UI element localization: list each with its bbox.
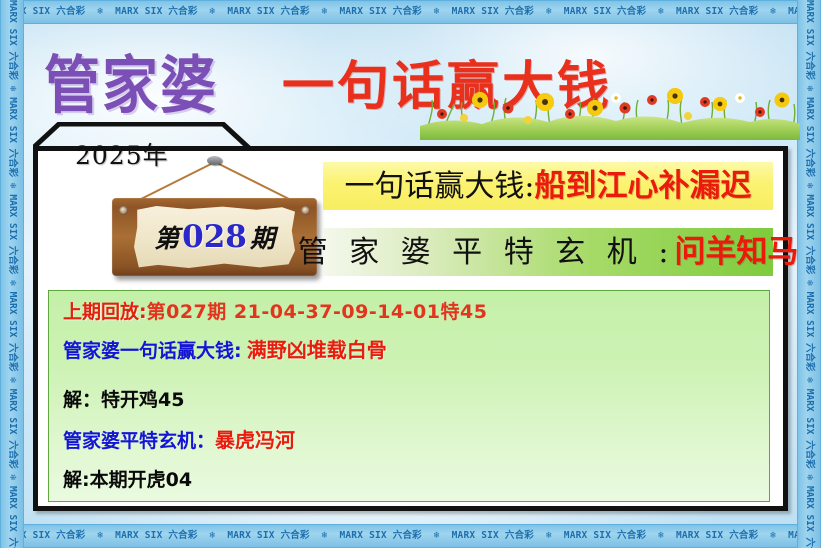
secret-value: 暴虎冯河 [215,428,295,452]
flower-icon: ❄ [319,530,331,541]
replay-row: 上期回放:第027期 21-04-37-09-14-01特45 [63,303,769,322]
sign-peg-icon [207,156,222,165]
flower-icon: ❄ [543,6,555,17]
border-tile-text: MARX SIX 六合彩 [112,6,200,17]
banner-green-label: 管 家 婆 平 特 玄 机 : [298,235,675,270]
flower-icon: ❄ [7,377,18,383]
flower-icon: ❄ [655,530,667,541]
poster-root: MARX SIX 六合彩 ❄ MARX SIX 六合彩 ❄ MARX SIX 六… [0,0,821,548]
border-tile-text: MARX SIX 六合彩 [449,6,537,17]
explain-row-1: 解：特开鸡45 [63,391,769,410]
flower-icon: ❄ [767,530,779,541]
border-tile-text: MARX SIX 六合彩 [449,530,537,541]
tip-value: 满野凶堆载白骨 [247,338,387,362]
flower-icon: ❄ [206,6,218,17]
top-border-strip: MARX SIX 六合彩 ❄ MARX SIX 六合彩 ❄ MARX SIX 六… [0,0,821,24]
flower-icon: ❄ [94,530,106,541]
flower-icon: ❄ [7,474,18,480]
flower-group [437,85,793,124]
issue-prefix: 第 [154,219,179,255]
flower-icon: ❄ [431,6,443,17]
flower-icon: ❄ [206,530,218,541]
flower-icon: ❄ [804,377,815,383]
border-tile-text: MARX SIX 六合彩 [673,530,761,541]
border-tile-text: MARX SIX 六合彩 [224,530,312,541]
flower-icon: ❄ [431,530,443,541]
flower-icon: ❄ [655,6,667,17]
flower-icon: ❄ [804,474,815,480]
border-tile-text: MARX SIX 六合彩 [336,6,424,17]
tip-row: 管家婆一句话赢大钱: 满野凶堆载白骨 [63,340,769,361]
explain-row-2: 解:本期开虎04 [63,471,769,490]
tip-label: 管家婆一句话赢大钱: [63,340,242,362]
banner-yellow-value: 船到江心补漏迟 [535,168,752,204]
banner-green-line: 管 家 婆 平 特 玄 机 :问羊知马 [298,237,799,268]
secret-label: 管家婆平特玄机： [63,430,215,452]
replay-numbers: 21-04-37-09-14-01特45 [234,301,488,323]
flower-icon: ❄ [319,6,331,17]
banner-yellow: 一句话赢大钱:船到江心补漏迟 [323,162,773,210]
wooden-board: 第 028 期 [112,198,317,276]
bottom-border-strip: MARX SIX 六合彩 ❄ MARX SIX 六合彩 ❄ MARX SIX 六… [0,524,821,548]
issue-suffix: 期 [250,219,275,255]
flower-icon: ❄ [804,183,815,189]
border-tile-text: MARX SIX 六合彩 [112,530,200,541]
issue-number: 028 [179,219,250,255]
brand-title: 管家婆 [44,35,218,126]
replay-label: 上期回放: [63,301,147,323]
flower-icon: ❄ [94,6,106,17]
flower-icon: ❄ [7,183,18,189]
banner-yellow-label: 一句话赢大钱: [344,169,534,204]
border-tile-text: MARX SIX 六合彩 [673,6,761,17]
issue-ticket: 第 028 期 [134,206,295,268]
content-box: 上期回放:第027期 21-04-37-09-14-01特45 管家婆一句话赢大… [48,290,770,502]
flower-meadow-decoration [420,78,800,140]
secret-row: 管家婆平特玄机：暴虎冯河 [63,430,769,451]
banner-yellow-line: 一句话赢大钱:船到江心补漏迟 [344,171,751,202]
border-tile-text: MARX SIX 六合彩 [561,530,649,541]
border-tile-text: MARX SIX 六合彩 [561,6,649,17]
banner-green: 管 家 婆 平 特 玄 机 :问羊知马 [323,228,773,276]
flower-icon: ❄ [7,280,18,286]
border-tile-text: MARX SIX 六合彩 [336,530,424,541]
sign-paper: 第 028 期 [134,206,295,268]
meadow-svg [420,78,800,140]
flower-icon: ❄ [767,6,779,17]
hanging-issue-sign: 第 028 期 [95,150,335,295]
border-tile-text: MARX SIX 六合彩 [224,6,312,17]
flower-icon: ❄ [804,280,815,286]
replay-issue: 第027期 [147,301,227,323]
banner-green-value: 问羊知马 [674,234,798,270]
flower-icon: ❄ [543,530,555,541]
